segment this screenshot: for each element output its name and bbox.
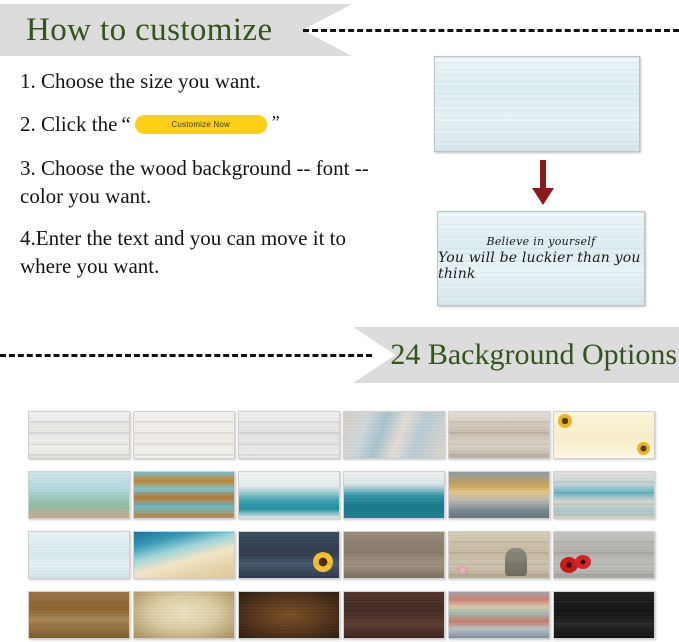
swatch-12[interactable] <box>553 471 655 519</box>
dashed-divider-bottom <box>0 354 372 357</box>
down-arrow-icon <box>530 160 556 206</box>
background-swatch-grid <box>28 411 656 637</box>
swatch-8[interactable] <box>133 471 235 519</box>
swatch-1[interactable] <box>28 411 130 459</box>
swatch-15[interactable] <box>238 531 340 579</box>
swatch-14[interactable] <box>133 531 235 579</box>
step-1: 1. Choose the size you want. <box>20 68 420 95</box>
poppy-icon <box>560 557 578 573</box>
swatch-16[interactable] <box>343 531 445 579</box>
step-2: 2. Click the “ Customize Now ” <box>20 111 420 138</box>
sunflower-icon <box>313 552 333 572</box>
swatch-7[interactable] <box>28 471 130 519</box>
poppy-icon <box>575 555 591 569</box>
swatch-3[interactable] <box>238 411 340 459</box>
text-sign-preview: Believe in yourself You will be luckier … <box>437 211 645 306</box>
page-title: How to customize <box>26 12 273 49</box>
swatch-23[interactable] <box>448 591 550 639</box>
swatch-11[interactable] <box>448 471 550 519</box>
step-4: 4.Enter the text and you can move it to … <box>20 224 390 280</box>
dashed-divider-top <box>303 29 679 32</box>
swatch-5[interactable] <box>448 411 550 459</box>
step-2-prefix: 2. Click the <box>20 111 117 138</box>
swatch-19[interactable] <box>28 591 130 639</box>
swatch-2[interactable] <box>133 411 235 459</box>
step-3: 3. Choose the wood background -- font --… <box>20 154 390 210</box>
swatch-10[interactable] <box>343 471 445 519</box>
instruction-list: 1. Choose the size you want. 2. Click th… <box>20 68 420 294</box>
quote-close: ” <box>272 111 280 134</box>
sunflower-icon <box>637 442 650 455</box>
sunflower-icon <box>558 414 572 428</box>
quote-open: “ <box>121 111 130 138</box>
swatch-9[interactable] <box>238 471 340 519</box>
customize-now-button[interactable]: Customize Now <box>135 115 267 134</box>
swatch-21[interactable] <box>238 591 340 639</box>
swatch-4[interactable] <box>343 411 445 459</box>
swatch-13[interactable] <box>28 531 130 579</box>
lotus-icon <box>457 566 468 574</box>
how-to-customize-banner: How to customize <box>0 4 352 56</box>
background-options-title: 24 Background Options <box>390 338 677 372</box>
swatch-17[interactable] <box>448 531 550 579</box>
swatch-22[interactable] <box>343 591 445 639</box>
buddha-icon <box>505 548 527 576</box>
swatch-20[interactable] <box>133 591 235 639</box>
swatch-18[interactable] <box>553 531 655 579</box>
background-options-banner: 24 Background Options <box>353 327 679 383</box>
swatch-6[interactable] <box>553 411 655 459</box>
sign-line-1: Believe in yourself <box>486 235 595 248</box>
blank-sign-preview <box>434 56 640 152</box>
sign-line-2: You will be luckier than you think <box>438 250 644 282</box>
swatch-24[interactable] <box>553 591 655 639</box>
